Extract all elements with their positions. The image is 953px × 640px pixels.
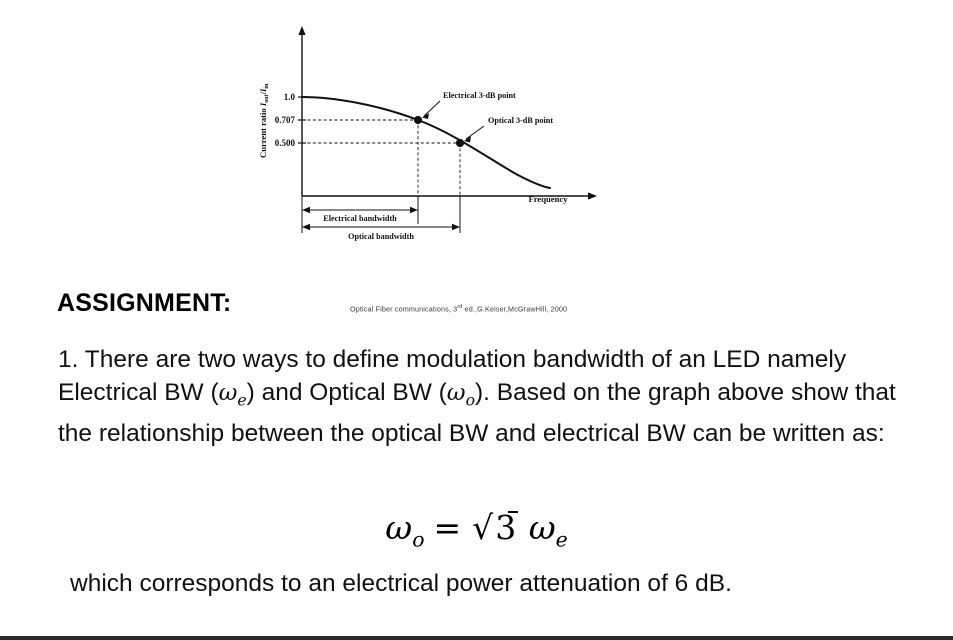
y-tick-label-1: 1.0 <box>284 92 296 102</box>
radicand: 3 <box>493 508 518 547</box>
radical-overbar <box>508 511 518 513</box>
y-axis <box>298 26 305 196</box>
equation-container: ωo=√3 ωe <box>0 508 953 552</box>
omega-o-symbol: ωo <box>447 380 475 406</box>
question-part-2: ) and Optical BW ( <box>247 379 447 406</box>
y-axis-title: Current ratio Iout/Iin <box>258 83 270 158</box>
omega-e-glyph: ω <box>219 380 238 406</box>
omega-o-glyph: ω <box>447 380 466 406</box>
question-text: 1. There are two ways to define modulati… <box>58 343 924 450</box>
y-axis-title-sub1: out <box>264 94 270 102</box>
citation-main: Optical Fiber communications, 3 <box>350 304 457 313</box>
optical-bandwidth-label: Optical bandwidth <box>348 232 414 241</box>
y-tick-label-3: 0.500 <box>275 138 296 148</box>
equation-lhs-symbol: ω <box>385 508 412 547</box>
radicand-value: 3 <box>495 508 516 547</box>
figure-citation: Optical Fiber communications, 3rd ed.,G.… <box>350 304 567 313</box>
equation-operator: = <box>434 508 462 547</box>
radical-sign: √ <box>472 508 493 547</box>
y-axis-title-main: Current ratio <box>258 106 268 158</box>
omega-e-subscript: e <box>237 391 246 410</box>
equation-rhs-symbol: ω <box>529 508 556 547</box>
guide-lines <box>302 120 460 196</box>
omega-e-symbol: ωe <box>219 380 247 406</box>
page-title: ASSIGNMENT: <box>57 289 231 318</box>
square-root-group: √3 <box>470 508 518 547</box>
bandwidth-equation: ωo=√3 ωe <box>385 508 567 552</box>
bandwidth-figure-svg: 1.0 0.707 0.500 Current ratio Iout/Iin F… <box>248 18 618 243</box>
electrical-bandwidth-label: Electrical bandwidth <box>323 214 397 223</box>
electrical-3db-annotation: Electrical 3-dB point <box>443 91 516 100</box>
optical-3db-marker <box>456 139 464 147</box>
equation-lhs-subscript: o <box>412 528 424 552</box>
optical-3db-annotation: Optical 3-dB point <box>488 116 553 125</box>
equation-rhs-subscript: e <box>556 528 568 552</box>
svg-text:Current ratio Iout/Iin: Current ratio Iout/Iin <box>258 83 270 158</box>
y-tick-label-2: 0.707 <box>275 115 296 125</box>
omega-o-subscript: o <box>466 391 475 410</box>
bandwidth-figure: 1.0 0.707 0.500 Current ratio Iout/Iin F… <box>248 18 618 243</box>
response-curve <box>302 97 550 188</box>
citation-tail: ed.,G.Keiser,McGrawHill, 2000 <box>462 304 567 313</box>
x-axis-title: Frequency <box>529 194 569 204</box>
y-axis-title-sub2: in <box>264 83 270 89</box>
electrical-3db-marker <box>414 116 422 124</box>
bottom-divider <box>0 636 953 640</box>
closing-text: which corresponds to an electrical power… <box>70 568 930 600</box>
